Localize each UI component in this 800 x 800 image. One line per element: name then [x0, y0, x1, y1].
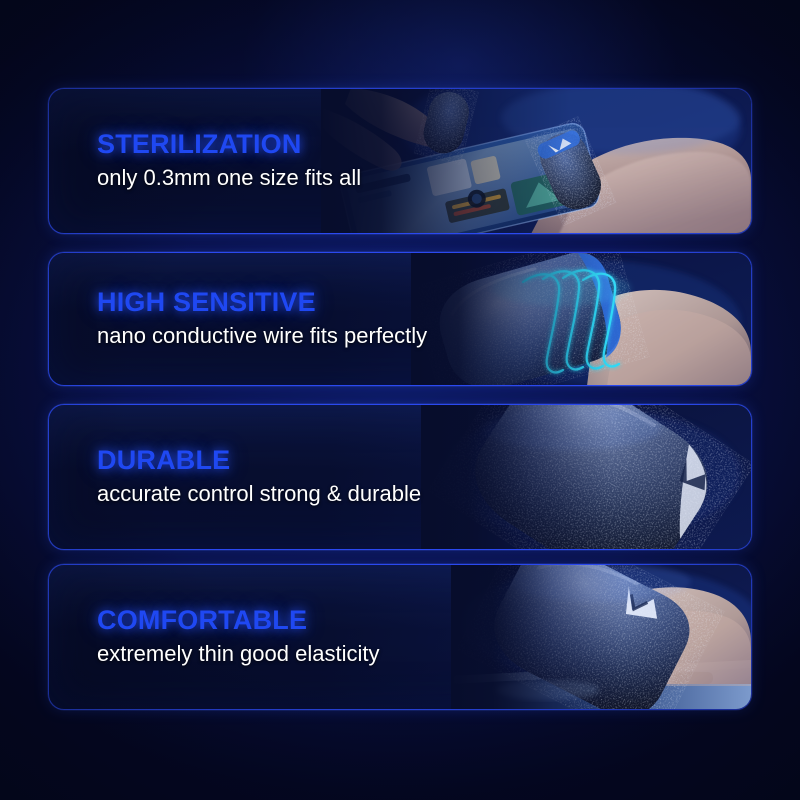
feature-subtitle: extremely thin good elasticity — [97, 640, 379, 668]
photo-hands-holding-phone — [321, 89, 751, 233]
photo-finger-with-conductive-coil — [411, 253, 751, 385]
feature-subtitle: accurate control strong & durable — [97, 480, 421, 508]
feature-text-comfortable: COMFORTABLE extremely thin good elastici… — [97, 606, 379, 668]
photo-sleeve-fabric-closeup — [421, 405, 751, 549]
feature-text-sterilization: STERILIZATION only 0.3mm one size fits a… — [97, 130, 361, 192]
feature-subtitle: only 0.3mm one size fits all — [97, 164, 361, 192]
feature-heading: COMFORTABLE — [97, 606, 379, 635]
feature-heading: HIGH SENSITIVE — [97, 288, 427, 317]
feature-heading: STERILIZATION — [97, 130, 361, 159]
feature-text-durable: DURABLE accurate control strong & durabl… — [97, 446, 421, 508]
photo-fingertip-touching-screen — [451, 565, 751, 709]
feature-subtitle: nano conductive wire fits perfectly — [97, 322, 427, 350]
feature-heading: DURABLE — [97, 446, 421, 475]
feature-text-high-sensitive: HIGH SENSITIVE nano conductive wire fits… — [97, 288, 427, 350]
